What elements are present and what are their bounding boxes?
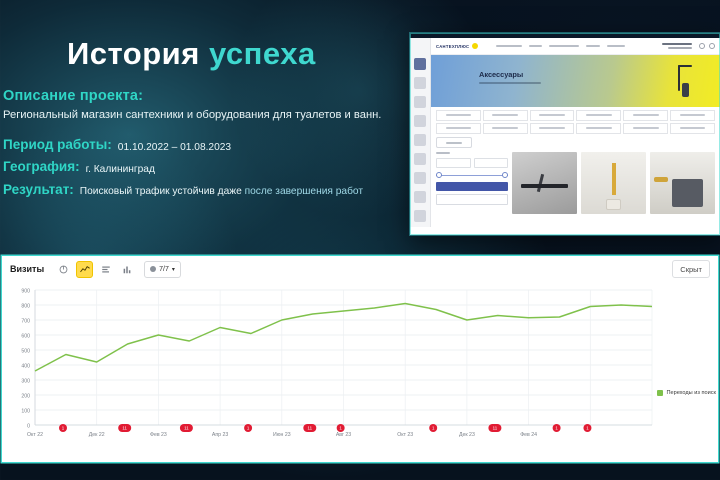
catalog-area [431,148,720,214]
apply-filter-button[interactable] [436,182,508,191]
price-slider[interactable] [436,172,508,178]
fact-period: Период работы: 01.10.2022 – 01.08.2023 [3,137,403,154]
category-cell[interactable] [483,110,528,121]
website-logo: САНТЕХПЛЮС [436,44,469,49]
phone-subline [668,47,692,49]
svg-text:700: 700 [21,318,30,324]
website-phone [662,43,692,49]
svg-text:Авг 23: Авг 23 [336,432,351,438]
project-info: Описание проекта: Региональный магазин с… [3,88,403,203]
svg-text:Апр 23: Апр 23 [212,432,228,438]
svg-text:0: 0 [27,423,30,429]
category-cell[interactable] [576,110,621,121]
category-cell[interactable] [623,123,668,134]
category-cell[interactable] [670,123,715,134]
title-accent: успеха [209,36,316,71]
price-max-input[interactable] [474,158,509,168]
hero-title: Аксессуары [479,70,523,79]
sidebar-logo-icon [414,58,426,70]
category-cell[interactable] [576,123,621,134]
category-grid [431,107,720,134]
category-cell[interactable] [623,110,668,121]
price-range-inputs [436,158,508,168]
website-header-icons [699,43,715,49]
hero-product-image [676,61,712,105]
legend-color-swatch [657,390,663,396]
svg-text:11: 11 [493,426,498,431]
nav-item [607,45,625,47]
category-cell[interactable] [483,123,528,134]
category-cell[interactable] [530,123,575,134]
svg-text:800: 800 [21,303,30,309]
product-thumb[interactable] [650,152,715,214]
category-row [436,110,715,121]
nav-item [529,45,542,47]
svg-text:900: 900 [21,288,30,294]
website-body: САНТЕХПЛЮС [410,38,720,227]
pie-chart-icon[interactable] [55,261,72,278]
analytics-title: Визиты [10,264,44,274]
metric-selector[interactable]: 7/7 ▾ [144,261,181,278]
svg-text:Фев 24: Фев 24 [520,432,537,438]
chevron-down-icon: ▾ [172,266,175,273]
sidebar-item-icon [414,153,426,165]
category-cell[interactable] [670,110,715,121]
cart-icon [709,43,715,49]
category-cell[interactable] [436,123,481,134]
filter-panel [436,152,508,214]
slide-root: История успеха Описание проекта: Региона… [0,0,720,480]
nav-item [496,45,522,47]
website-nav [496,45,625,47]
slider-handle-right[interactable] [502,172,508,178]
svg-text:Дек 22: Дек 22 [89,432,105,438]
hero-subtitle-bar [479,82,541,84]
metric-selector-value: 7/7 [159,266,169,273]
bar-chart-icon[interactable] [97,261,114,278]
svg-text:11: 11 [308,426,313,431]
nav-item [549,45,579,47]
description-heading: Описание проекта: [3,88,403,104]
logo-dot-icon [472,43,478,49]
website-screenshot: САНТЕХПЛЮС [410,33,720,235]
svg-text:Окт 22: Окт 22 [27,432,43,438]
fact-result: Результат: Поисковый трафик устойчив даж… [3,182,403,198]
svg-text:Июн 23: Июн 23 [273,432,291,438]
product-thumb[interactable] [512,152,577,214]
slider-handle-left[interactable] [436,172,442,178]
svg-text:400: 400 [21,363,30,369]
hide-button[interactable]: Скрыт [672,260,710,278]
product-thumb[interactable] [581,152,646,214]
fact-result-value: Поисковый трафик устойчив даже после зав… [80,182,363,198]
sidebar-item-icon [414,96,426,108]
fact-geography-value: г. Калининград [86,159,155,176]
svg-text:11: 11 [122,426,127,431]
analytics-panel: Визиты 7/7 ▾ Скрыт 010020030040050060070… [2,256,718,462]
fact-result-value-soft: после завершения работ [245,186,363,197]
line-chart-icon[interactable] [76,261,93,278]
product-thumbnails [512,152,715,214]
fact-result-value-main: Поисковый трафик устойчив даже [80,186,245,197]
website-sidebar [410,38,431,227]
analytics-toolbar: Визиты 7/7 ▾ Скрыт [2,256,718,282]
svg-text:200: 200 [21,393,30,399]
price-min-input[interactable] [436,158,471,168]
svg-text:Фев 23: Фев 23 [150,432,167,438]
svg-text:11: 11 [184,426,189,431]
chart-area: 0100200300400500600700800900Окт 22Дек 22… [2,282,718,462]
website-main: САНТЕХПЛЮС [431,38,720,227]
sidebar-item-icon [414,210,426,222]
filter-chip[interactable] [436,137,472,148]
svg-text:300: 300 [21,378,30,384]
visits-line-chart: 0100200300400500600700800900Окт 22Дек 22… [2,282,718,462]
page-title: История успеха [67,38,316,69]
fact-result-label: Результат: [3,182,74,197]
description-text: Региональный магазин сантехники и оборуд… [3,108,383,123]
sidebar-item-icon [414,77,426,89]
svg-text:100: 100 [21,408,30,414]
column-chart-icon[interactable] [118,261,135,278]
category-cell[interactable] [436,110,481,121]
fact-geography-label: География: [3,159,80,174]
category-cell[interactable] [530,110,575,121]
fact-period-value: 01.10.2022 – 01.08.2023 [118,137,231,154]
chart-legend: Переходы из поиск [657,390,716,396]
fact-period-label: Период работы: [3,137,112,152]
filter-label [436,152,450,154]
svg-text:500: 500 [21,348,30,354]
svg-text:600: 600 [21,333,30,339]
sidebar-item-icon [414,134,426,146]
website-hero-banner: Аксессуары [431,55,720,107]
reset-filter-button[interactable] [436,194,508,205]
sidebar-item-icon [414,115,426,127]
nav-item [586,45,600,47]
user-icon [699,43,705,49]
sidebar-item-icon [414,172,426,184]
category-row [436,123,715,134]
fact-geography: География: г. Калининград [3,159,403,176]
sidebar-item-icon [414,191,426,203]
legend-label: Переходы из поиск [666,390,716,396]
svg-text:Дек 23: Дек 23 [459,432,475,438]
metric-dot-icon [150,266,156,272]
website-header: САНТЕХПЛЮС [431,38,720,55]
phone-line [662,43,692,45]
svg-text:Окт 23: Окт 23 [397,432,413,438]
title-main: История [67,36,200,71]
